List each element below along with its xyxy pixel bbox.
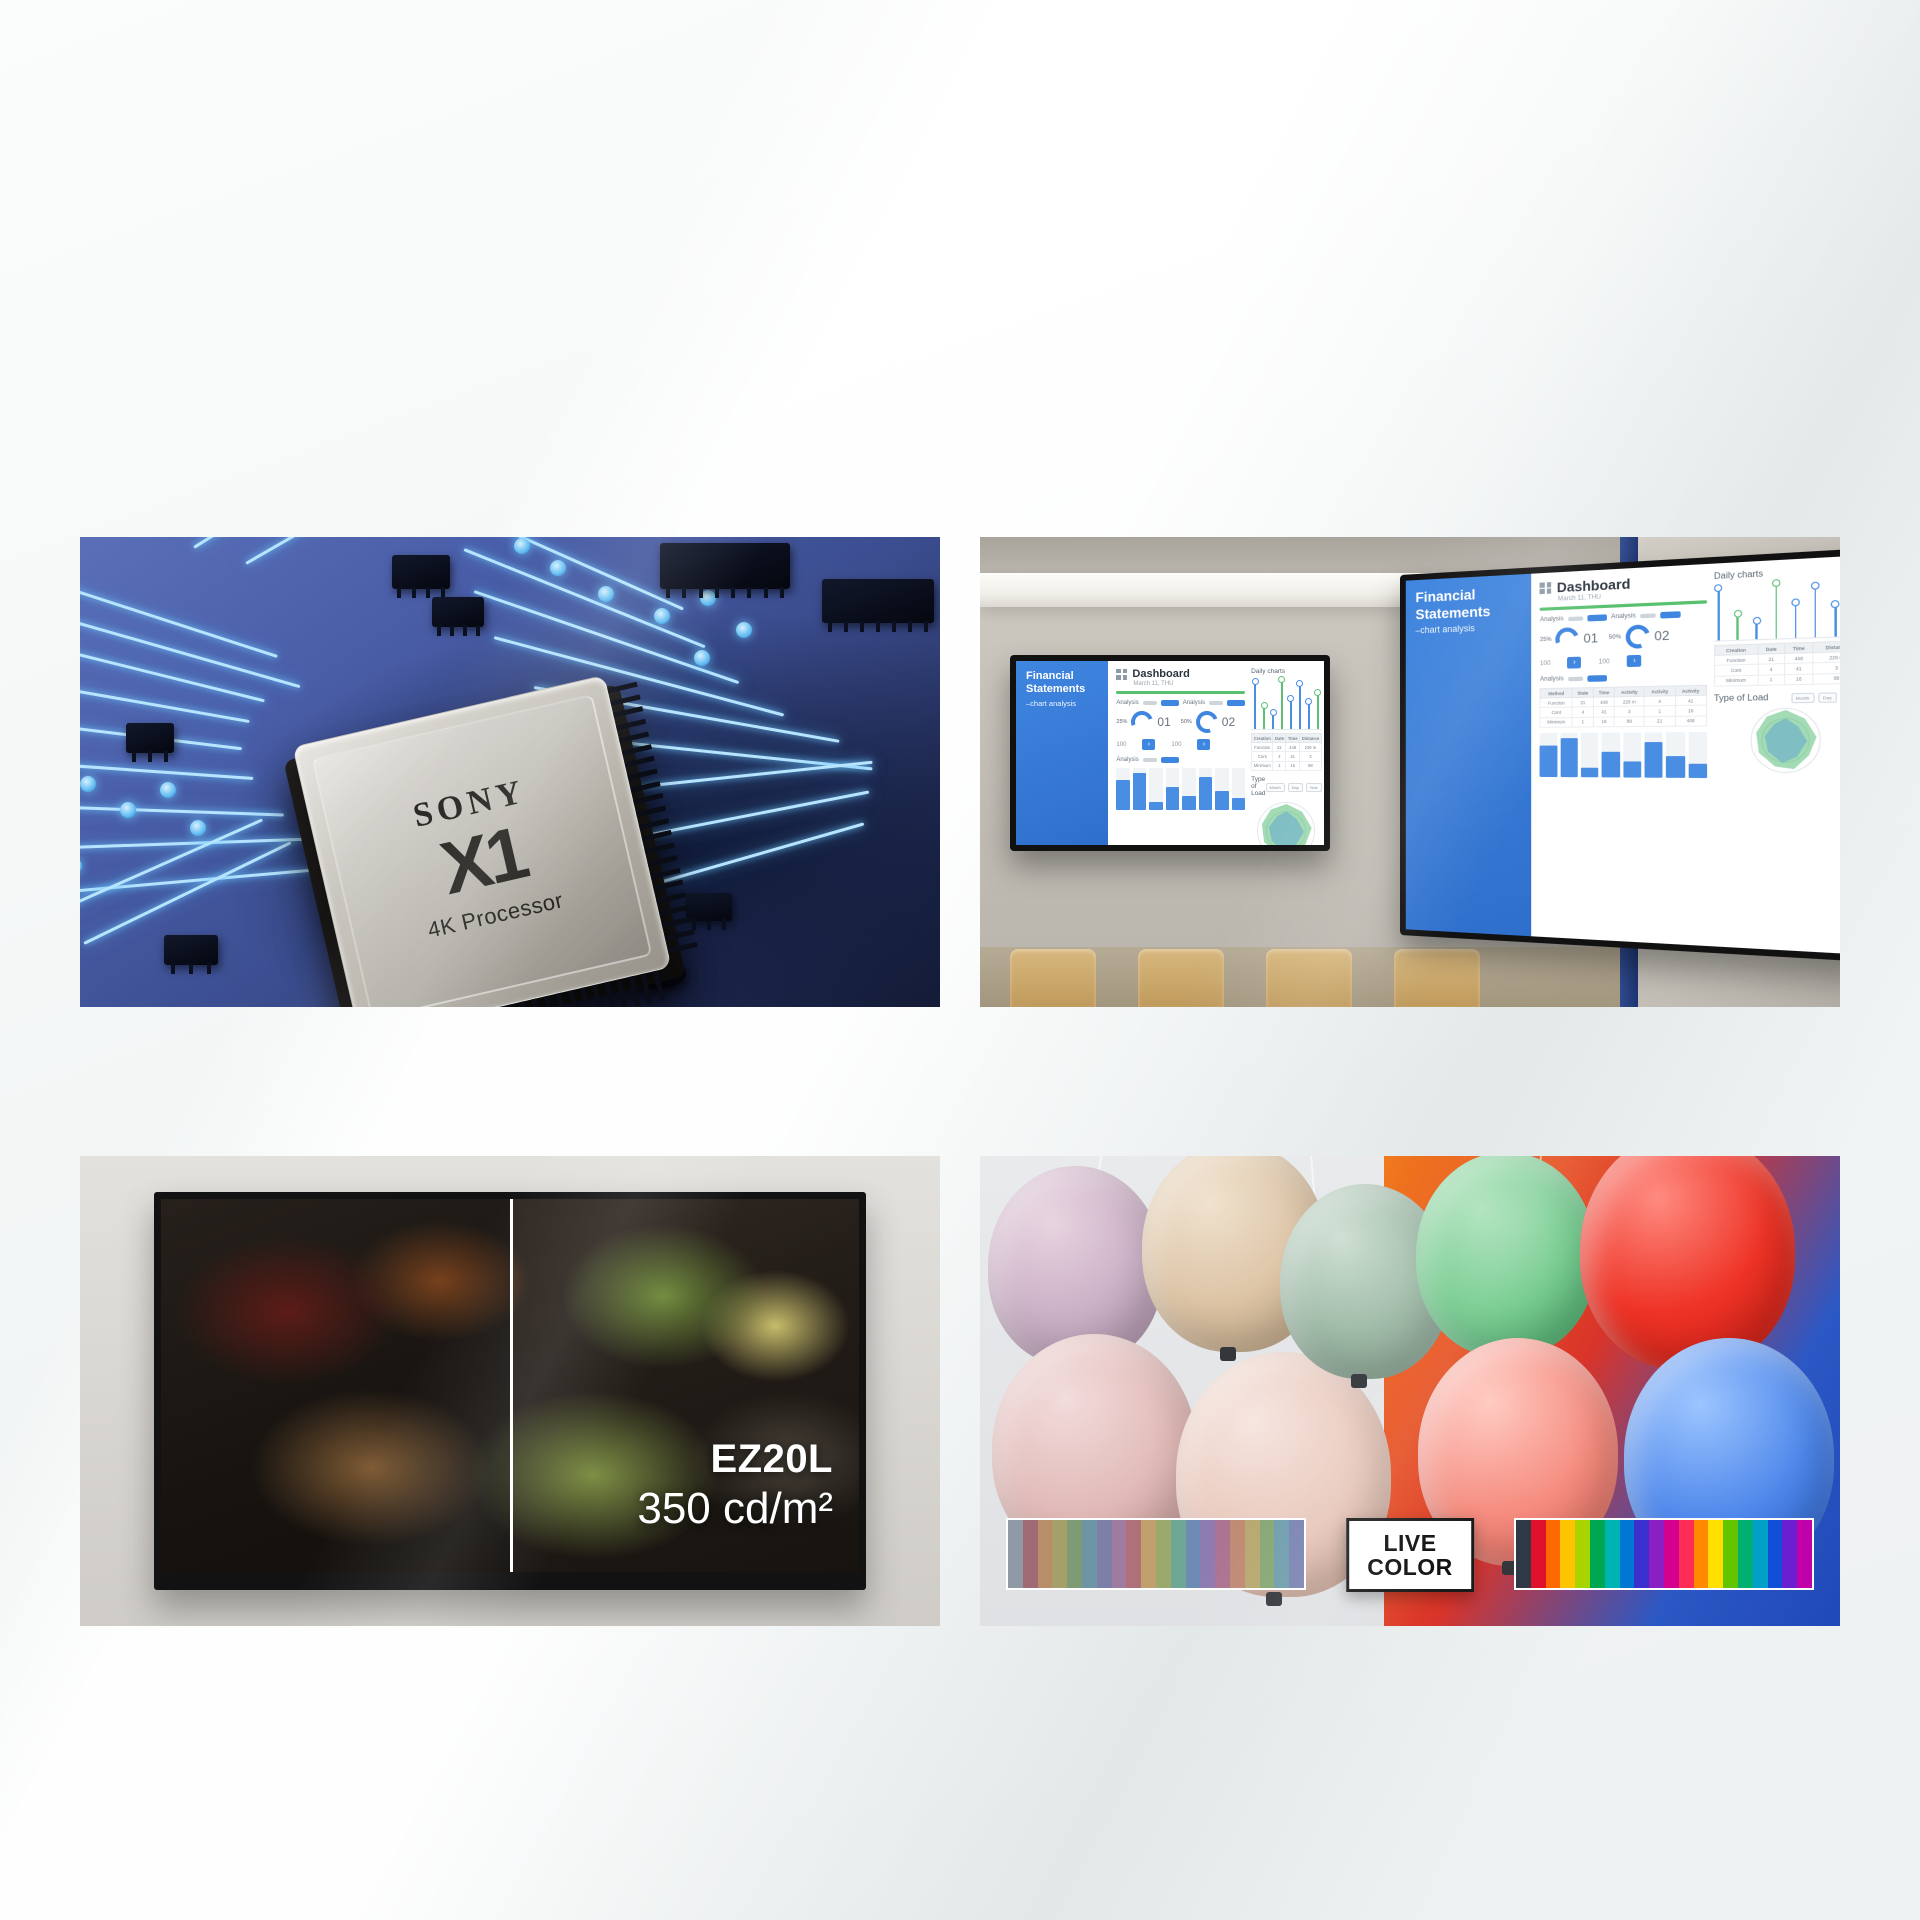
viewing-angle-caption: Inhalte aus einem weiten Betrachtungswin… bbox=[1020, 1033, 1800, 1140]
page-root: Starke Verarbeitung, Beeindruckende Leis… bbox=[0, 0, 1920, 1920]
subhead-line-1: Helle, schöne Bilder für Beschilderung u… bbox=[469, 350, 1452, 408]
table-cell: Cont bbox=[1540, 707, 1572, 717]
gauge-index: 01 bbox=[1584, 631, 1598, 646]
smd-component bbox=[392, 555, 450, 589]
sidebar-title-line-2: Statements bbox=[1026, 683, 1100, 696]
table-cell: 4 bbox=[1572, 707, 1593, 717]
gauge-ring bbox=[1552, 624, 1583, 654]
select-month[interactable]: Month bbox=[1266, 783, 1285, 792]
analysis-label: Analysis bbox=[1611, 613, 1636, 620]
table-cell: 16 bbox=[1675, 706, 1706, 716]
dashboard-main: Dashboard March 11, THU Analysis Analysi… bbox=[1108, 661, 1324, 845]
table-col-header: Time bbox=[1286, 734, 1300, 743]
smd-component bbox=[432, 597, 484, 627]
dashboard-screen: Financial Statements –chart analysis Das… bbox=[1406, 555, 1840, 955]
toggle-button[interactable] bbox=[1161, 757, 1179, 763]
lollipop-chart bbox=[1251, 678, 1322, 730]
data-table-secondary: Method State Time Activity Activity Acti… bbox=[1540, 685, 1707, 728]
gauge-group: 25% 01 50% 02 bbox=[1116, 711, 1245, 733]
gauge-ring bbox=[1128, 707, 1157, 736]
caption-line-1: 350 cd/m² Helligkeit für lebhafte bbox=[229, 1656, 792, 1700]
table-cell: 88 bbox=[1813, 673, 1840, 684]
table-cell: 226 m bbox=[1614, 697, 1644, 707]
balloon-green bbox=[1416, 1156, 1596, 1357]
gauge-percent: 50% bbox=[1181, 719, 1192, 725]
caption-line-1: Live Color für eindrucksvolle bbox=[1159, 1656, 1661, 1700]
table-row: Minimum 1 16 88 21 448 bbox=[1540, 716, 1706, 727]
table-cell: 21 bbox=[1644, 716, 1675, 726]
table-cell: 16 bbox=[1594, 717, 1615, 727]
color-swatch-strip-right bbox=[1514, 1518, 1814, 1590]
toggle-button[interactable] bbox=[1227, 700, 1245, 706]
table-cell: 4 bbox=[1758, 664, 1785, 675]
table-cell: 4 bbox=[1273, 752, 1286, 761]
feature-card-brightness: EZ20L 350 cd/m² 350 cd/m² Helligkeit für… bbox=[80, 1156, 940, 1759]
table-col-header: Distance bbox=[1813, 641, 1840, 653]
display-angled: Financial Statements –chart analysis Das… bbox=[1400, 548, 1840, 963]
data-table: Creation Date Time Distance Function 21 bbox=[1251, 733, 1322, 771]
dashboard-accent-rule bbox=[1116, 691, 1245, 694]
table-cell: 448 bbox=[1675, 716, 1706, 726]
dashboard-left-column: Dashboard March 11, THU Analysis Analysi… bbox=[1540, 572, 1707, 946]
data-table: Creation Date Time Distance Function 21 bbox=[1714, 640, 1840, 686]
display-bezel: EZ20L 350 cd/m² bbox=[154, 1192, 866, 1590]
arrow-right-icon[interactable]: › bbox=[1142, 739, 1155, 750]
gauge-ring bbox=[1192, 707, 1221, 736]
bar-chart bbox=[1540, 732, 1707, 778]
gauge-value: 100 bbox=[1540, 660, 1551, 667]
gauge-item: 50% 02 bbox=[1609, 624, 1670, 650]
office-displays-image: Financial Statements –chart analysis Das… bbox=[980, 537, 1840, 1007]
gauge-ring bbox=[1621, 621, 1654, 652]
feature-card-viewing-angle: Financial Statements –chart analysis Das… bbox=[980, 537, 1840, 1140]
table-cell: Minimum bbox=[1540, 717, 1572, 727]
arrow-right-icon[interactable]: › bbox=[1627, 655, 1641, 667]
processor-caption: Der 4K X1™ Prozessor bietet mehr Kontras… bbox=[120, 1033, 900, 1140]
gauge-group: 25% 01 50% 02 bbox=[1540, 622, 1707, 651]
sidebar-subtitle: –chart analysis bbox=[1026, 699, 1100, 708]
caption-line-2: Beschilderungen und Inhalte bbox=[120, 1706, 900, 1760]
table-col-header: Activity bbox=[1614, 687, 1644, 697]
table-cell: 16 bbox=[1785, 674, 1814, 685]
type-of-load-label: Type of Load bbox=[1251, 776, 1265, 797]
toggle-button[interactable] bbox=[1587, 675, 1607, 682]
table-cell: 448 bbox=[1286, 743, 1300, 752]
smd-component bbox=[164, 935, 218, 965]
analysis-label: Analysis bbox=[1116, 700, 1138, 706]
chair bbox=[1394, 949, 1480, 1007]
table-cell: 21 bbox=[1273, 743, 1286, 752]
gauge-values: 100 › 100 › bbox=[1116, 739, 1245, 750]
table-cell: Minimum bbox=[1252, 761, 1273, 770]
bar-chart bbox=[1116, 768, 1245, 810]
table-cell: 1 bbox=[1572, 717, 1593, 727]
table-cell: 226 m bbox=[1813, 652, 1840, 664]
live-color-caption: Live Color für eindrucksvolle Schattieru… bbox=[1020, 1652, 1800, 1759]
live-color-badge: LIVE COLOR bbox=[1346, 1518, 1474, 1592]
table-col-header: Date bbox=[1273, 734, 1286, 743]
radar-chart bbox=[1714, 704, 1840, 775]
headline-line-2: Beeindruckende Leistung bbox=[0, 196, 1920, 300]
grid-icon bbox=[1116, 669, 1127, 680]
smd-component bbox=[686, 893, 732, 921]
toggle-button[interactable] bbox=[1660, 611, 1680, 618]
feature-grid: SONY X1 4K Processor Der 4K X1™ Prozesso… bbox=[80, 537, 1840, 1759]
toggle-track[interactable] bbox=[1568, 616, 1583, 621]
table-cell: 226 m bbox=[1299, 743, 1321, 752]
table-header-row: Creation Date Time Distance bbox=[1252, 734, 1322, 743]
live-color-image: LIVE COLOR bbox=[980, 1156, 1840, 1626]
select-day[interactable]: Day bbox=[1818, 693, 1837, 704]
table-col-header: Creation bbox=[1252, 734, 1273, 743]
feature-card-processor: SONY X1 4K Processor Der 4K X1™ Prozesso… bbox=[80, 537, 940, 1140]
caption-line-1: Der 4K X1™ Prozessor bietet mehr bbox=[197, 1037, 824, 1081]
gauge-percent: 50% bbox=[1609, 634, 1621, 641]
color-swatch-strip-left bbox=[1006, 1518, 1306, 1590]
brightness-value-text: 350 cd/m² bbox=[637, 1484, 833, 1534]
toggle-track[interactable] bbox=[1640, 613, 1656, 618]
caption-line-2: Kontrast, Farbe und Klarheit bbox=[120, 1087, 900, 1141]
table-col-header: State bbox=[1572, 688, 1593, 698]
table-cell: 3 bbox=[1813, 662, 1840, 674]
brightness-overlay-label: EZ20L 350 cd/m² bbox=[637, 1437, 833, 1534]
daily-charts-label: Daily charts bbox=[1251, 668, 1322, 675]
gauge-item: 25% 01 bbox=[1116, 711, 1170, 733]
table-cell: 4 bbox=[1644, 696, 1675, 706]
table-col-header: Distance bbox=[1299, 734, 1321, 743]
caption-line-1: Inhalte aus einem weiten bbox=[1189, 1037, 1632, 1081]
gauge-index: 02 bbox=[1222, 715, 1235, 729]
table-cell: 41 bbox=[1286, 752, 1300, 761]
toggle-track[interactable] bbox=[1209, 701, 1223, 705]
brightness-comparison-image: EZ20L 350 cd/m² bbox=[80, 1156, 940, 1626]
gauge-value: 100 bbox=[1171, 742, 1181, 748]
select-day[interactable]: Day bbox=[1288, 783, 1303, 792]
dashboard-main: Dashboard March 11, THU Analysis Analysi… bbox=[1532, 555, 1840, 955]
select-group: Month Day Year bbox=[1791, 692, 1840, 703]
table-cell: 3 bbox=[1299, 752, 1321, 761]
table-row: Minimum 1 16 88 bbox=[1714, 673, 1840, 686]
page-subtitle: Helle, schöne Bilder für Beschilderung u… bbox=[0, 346, 1920, 481]
smd-component bbox=[126, 723, 174, 753]
select-group: Month Day Year bbox=[1266, 783, 1322, 792]
office-room-graphic: Financial Statements –chart analysis Das… bbox=[980, 537, 1840, 1007]
table-cell: 1 bbox=[1644, 706, 1675, 716]
display-screen: EZ20L 350 cd/m² bbox=[161, 1199, 859, 1572]
table-cell: 3 bbox=[1614, 706, 1644, 716]
caption-line-2: Betrachtungswinkel scharf sehen bbox=[1020, 1087, 1800, 1141]
chip-model-text: X1 bbox=[434, 816, 531, 907]
analysis-row-label-2: Analysis bbox=[1116, 757, 1245, 763]
toggle-button[interactable] bbox=[1161, 700, 1179, 706]
dim-half-overlay bbox=[161, 1199, 510, 1572]
table-col-header: Time bbox=[1594, 687, 1615, 697]
grid-icon bbox=[1540, 582, 1552, 594]
analysis-label: Analysis bbox=[1116, 757, 1138, 763]
radar-chart bbox=[1251, 800, 1322, 845]
select-year[interactable]: Year bbox=[1306, 783, 1322, 792]
toggle-track[interactable] bbox=[1143, 701, 1157, 705]
table-col-header: Activity bbox=[1675, 685, 1706, 696]
smd-component bbox=[660, 543, 790, 589]
gauge-value: 100 bbox=[1116, 742, 1126, 748]
sidebar-subtitle: –chart analysis bbox=[1415, 621, 1523, 635]
chair bbox=[1266, 949, 1352, 1007]
chair bbox=[1010, 949, 1096, 1007]
table-cell: 16 bbox=[1286, 761, 1300, 770]
select-month[interactable]: Month bbox=[1791, 693, 1814, 704]
dashboard-right-column: Daily charts bbox=[1251, 668, 1322, 845]
balloons-graphic: LIVE COLOR bbox=[980, 1156, 1840, 1626]
subhead-line-2: Unternehmensumgebungen bbox=[0, 414, 1920, 482]
dashboard-sidebar: Financial Statements –chart analysis bbox=[1406, 574, 1532, 937]
analysis-row-label: Analysis Analysis bbox=[1116, 700, 1245, 706]
analysis-label: Analysis bbox=[1540, 616, 1564, 623]
analysis-label: Analysis bbox=[1540, 676, 1564, 683]
gauge-value: 100 bbox=[1599, 659, 1610, 666]
table-cell: 1 bbox=[1273, 761, 1286, 770]
table-cell: Function bbox=[1540, 698, 1572, 708]
comparison-split-line bbox=[510, 1199, 513, 1572]
dashboard-screen: Financial Statements –chart analysis Das… bbox=[1016, 661, 1324, 845]
gauge-item: 25% 01 bbox=[1540, 626, 1598, 651]
caption-line-2: Schattierungen und Farbtöne bbox=[1020, 1706, 1800, 1760]
chair-row bbox=[1010, 949, 1610, 1007]
page-header: Starke Verarbeitung, Beeindruckende Leis… bbox=[0, 0, 1920, 481]
arrow-right-icon[interactable]: › bbox=[1197, 739, 1210, 750]
table-cell: 41 bbox=[1675, 695, 1706, 706]
lollipop-chart bbox=[1714, 577, 1840, 641]
table-cell: 88 bbox=[1299, 761, 1321, 770]
table-row: Minimum 1 16 88 bbox=[1252, 761, 1322, 770]
analysis-row-label-2: Analysis bbox=[1540, 673, 1707, 683]
table-cell: Function bbox=[1252, 743, 1273, 752]
toggle-button[interactable] bbox=[1587, 614, 1607, 621]
balloon-red bbox=[1580, 1156, 1795, 1370]
gauge-index: 02 bbox=[1654, 628, 1669, 644]
toggle-track[interactable] bbox=[1568, 677, 1583, 682]
table-col-header: Activity bbox=[1644, 686, 1675, 697]
table-row: Function 21 448 226 m bbox=[1252, 743, 1322, 752]
dashboard-left-column: Dashboard March 11, THU Analysis Analysi… bbox=[1116, 668, 1245, 845]
gauge-percent: 25% bbox=[1116, 719, 1127, 725]
dashboard-right-column: Daily charts bbox=[1714, 564, 1840, 955]
smd-component bbox=[822, 579, 934, 623]
table-row: Cont 4 41 3 bbox=[1252, 752, 1322, 761]
arrow-right-icon[interactable]: › bbox=[1567, 657, 1581, 669]
gauge-percent: 25% bbox=[1540, 637, 1552, 644]
table-cell: 41 bbox=[1594, 707, 1615, 717]
table-cell: 1 bbox=[1758, 674, 1785, 685]
analysis-row-label: Analysis Analysis bbox=[1540, 610, 1707, 623]
headline-line-1: Starke Verarbeitung, bbox=[518, 92, 1403, 194]
dashboard-header: Dashboard bbox=[1116, 668, 1245, 680]
gauge-index: 01 bbox=[1157, 715, 1170, 729]
table-cell: 88 bbox=[1614, 716, 1644, 726]
table-cell: 21 bbox=[1572, 697, 1593, 707]
gauge-item: 50% 02 bbox=[1181, 711, 1235, 733]
dashboard-title: Dashboard bbox=[1132, 668, 1189, 680]
display-front: Financial Statements –chart analysis Das… bbox=[1010, 655, 1330, 851]
sidebar-title-line-1: Financial bbox=[1026, 670, 1100, 683]
badge-line-1: LIVE bbox=[1367, 1531, 1453, 1555]
badge-line-2: COLOR bbox=[1367, 1555, 1453, 1579]
brightness-caption: 350 cd/m² Helligkeit für lebhafte Beschi… bbox=[120, 1652, 900, 1759]
circuit-board-graphic: SONY X1 4K Processor bbox=[80, 537, 940, 1007]
type-of-load-label: Type of Load bbox=[1714, 692, 1769, 703]
dashboard-sidebar: Financial Statements –chart analysis bbox=[1016, 661, 1108, 845]
gauge-values: 100 › 100 › bbox=[1540, 653, 1707, 669]
toggle-track[interactable] bbox=[1143, 758, 1157, 762]
chair bbox=[1138, 949, 1224, 1007]
dashboard-date: March 11, THU bbox=[1133, 681, 1245, 687]
table-cell: 448 bbox=[1594, 697, 1615, 707]
analysis-label: Analysis bbox=[1183, 700, 1205, 706]
model-name-text: EZ20L bbox=[637, 1437, 833, 1482]
processor-image: SONY X1 4K Processor bbox=[80, 537, 940, 1007]
page-title: Starke Verarbeitung, Beeindruckende Leis… bbox=[0, 92, 1920, 300]
feature-card-live-color: LIVE COLOR Live Color für eindrucksvolle… bbox=[980, 1156, 1840, 1759]
table-cell: Minimum bbox=[1714, 675, 1757, 686]
table-cell: Cont bbox=[1252, 752, 1273, 761]
